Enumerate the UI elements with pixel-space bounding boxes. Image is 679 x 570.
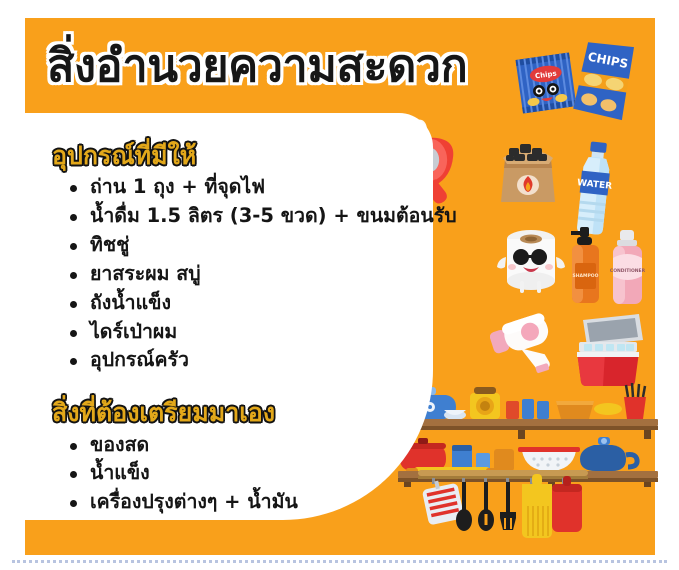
white-panel-left-filler xyxy=(0,113,26,520)
list-item: อุปกรณ์ครัว xyxy=(70,346,422,375)
section-heading-bring-your-own: สิ่งที่ต้องเตรียมมาเอง xyxy=(52,397,422,428)
hair-dryer-icon xyxy=(490,310,566,380)
svg-text:SHAMPOO: SHAMPOO xyxy=(573,273,599,279)
bring-your-own-items-list: ของสด น้ำแข็ง เครื่องปรุงต่างๆ + น้ำมัน xyxy=(52,431,422,518)
charcoal-bag-icon xyxy=(493,138,563,208)
section-spacer xyxy=(52,375,422,397)
list-item: ของสด xyxy=(70,431,422,460)
cooler-box-icon xyxy=(565,310,651,388)
page-title: สิ่งอำนวยความสะดวก xyxy=(47,42,467,89)
shampoo-bottle-icon: SHAMPOO xyxy=(566,225,606,307)
list-item: ยาสระผม สบู่ xyxy=(70,260,422,289)
title-bar: สิ่งอำนวยความสะดวก xyxy=(25,18,655,113)
list-item: เครื่องปรุงต่างๆ + น้ำมัน xyxy=(70,488,422,517)
list-item: น้ำแข็ง xyxy=(70,459,422,488)
bottom-dotted-divider xyxy=(12,560,667,563)
svg-text:CONDITIONER: CONDITIONER xyxy=(610,268,646,274)
list-item: ถังน้ำแข็ง xyxy=(70,289,422,318)
content-area: อุปกรณ์ที่มีให้ ถ่าน 1 ถุง + ที่จุดไฟ น้… xyxy=(52,140,422,517)
provided-items-list: ถ่าน 1 ถุง + ที่จุดไฟ น้ำดื่ม 1.5 ลิตร (… xyxy=(52,173,422,375)
list-item: ทิชชู่ xyxy=(70,231,422,260)
list-item: ไดร์เป่าผม xyxy=(70,318,422,347)
poster-root: Chips CHIPS xyxy=(0,0,679,570)
list-item: ถ่าน 1 ถุง + ที่จุดไฟ xyxy=(70,173,422,202)
toilet-paper-icon xyxy=(493,223,569,303)
utensil-rack-icon xyxy=(418,466,588,548)
list-item: น้ำดื่ม 1.5 ลิตร (3-5 ขวด) + ขนมต้อนรับ xyxy=(70,202,422,231)
conditioner-bottle-icon: CONDITIONER xyxy=(608,228,648,308)
section-heading-provided: อุปกรณ์ที่มีให้ xyxy=(52,140,422,171)
